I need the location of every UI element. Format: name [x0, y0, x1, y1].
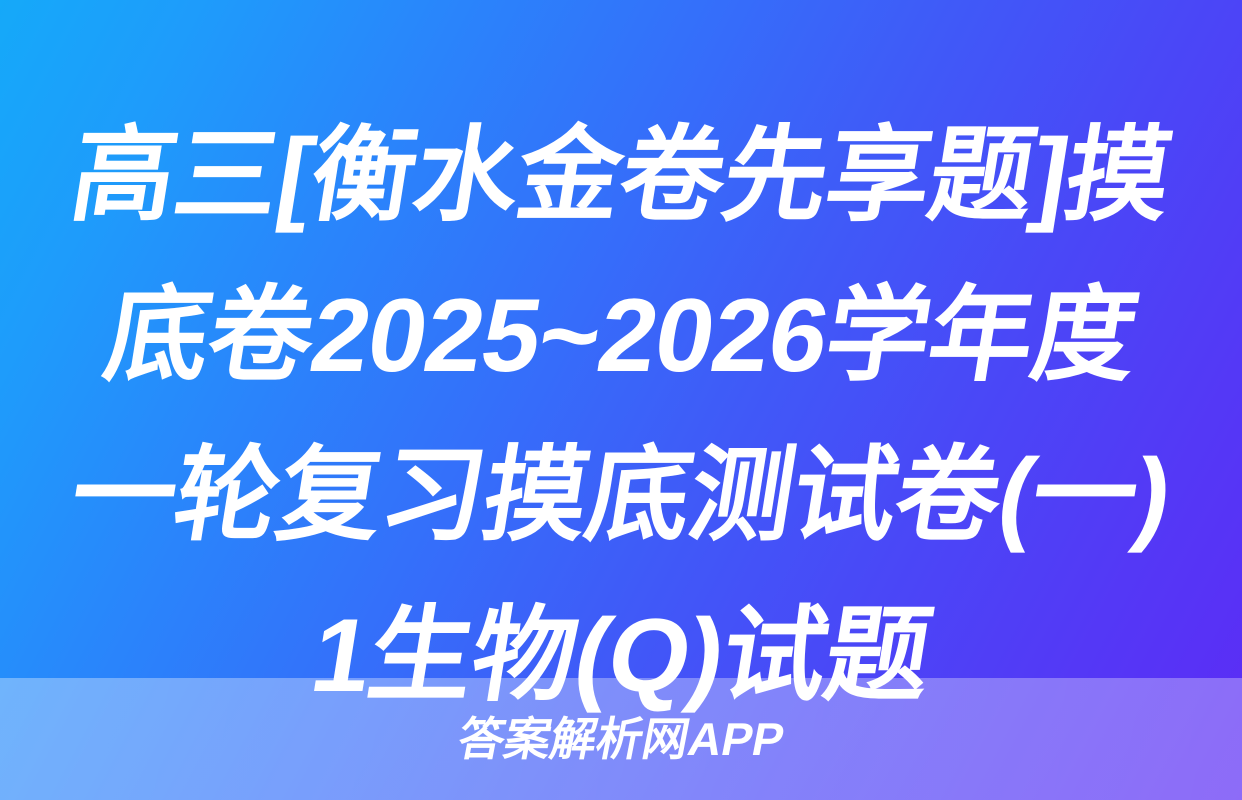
title-line-2: 底卷2025~2026学年度 — [0, 256, 1242, 416]
watermark-label: 答案解析网APP — [454, 716, 788, 762]
title-line-3: 一轮复习摸底测试卷(一) — [0, 416, 1242, 576]
title-line-1: 高三[衡水金卷先享题]摸 — [0, 96, 1242, 256]
footer-watermark-band: 答案解析网APP — [0, 678, 1242, 800]
poster-title: 高三[衡水金卷先享题]摸 底卷2025~2026学年度 一轮复习摸底测试卷(一)… — [0, 96, 1242, 678]
poster-background: 高三[衡水金卷先享题]摸 底卷2025~2026学年度 一轮复习摸底测试卷(一)… — [0, 0, 1242, 800]
